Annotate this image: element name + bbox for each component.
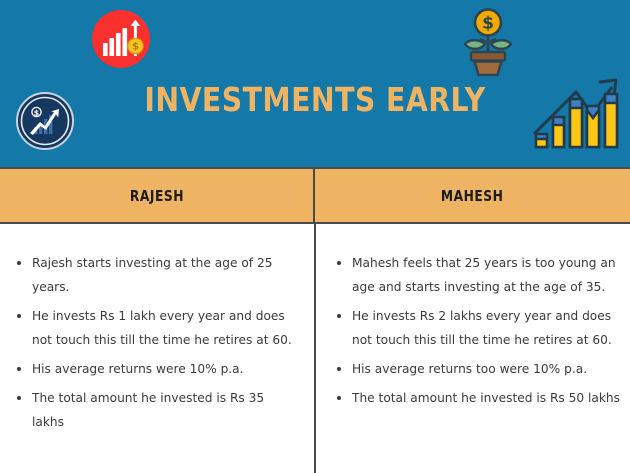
list-item: He invests Rs 1 lakh every year and does… bbox=[12, 304, 298, 352]
mahesh-points-list: Mahesh feels that 25 years is too young … bbox=[332, 251, 620, 410]
column-header-rajesh: RAJESH bbox=[0, 169, 315, 222]
list-item: Rajesh starts investing at the age of 25… bbox=[12, 251, 298, 299]
list-item: The total amount he invested is Rs 35 la… bbox=[12, 386, 298, 434]
list-item: Mahesh feels that 25 years is too young … bbox=[332, 251, 620, 299]
column-body-rajesh: Rajesh starts investing at the age of 25… bbox=[0, 224, 316, 473]
list-item: He invests Rs 2 lakhs every year and doe… bbox=[332, 304, 620, 352]
column-header-rajesh-label: RAJESH bbox=[129, 187, 183, 205]
growth-chart-circle-icon: $ bbox=[92, 10, 150, 68]
money-plant-icon: $ bbox=[452, 8, 524, 78]
rajesh-points-list: Rajesh starts investing at the age of 25… bbox=[12, 251, 298, 434]
column-header-mahesh-label: MAHESH bbox=[441, 187, 504, 205]
svg-text:$: $ bbox=[34, 108, 39, 117]
column-body-mahesh: Mahesh feels that 25 years is too young … bbox=[316, 224, 630, 473]
comparison-table-header: RAJESH MAHESH bbox=[0, 167, 630, 224]
column-header-mahesh: MAHESH bbox=[315, 169, 630, 222]
svg-text:$: $ bbox=[132, 42, 139, 53]
list-item: His average returns too were 10% p.a. bbox=[332, 357, 620, 381]
header-banner: $ $ $ bbox=[0, 0, 630, 167]
infographic-page: $ $ $ bbox=[0, 0, 630, 473]
svg-text:$: $ bbox=[482, 14, 494, 34]
list-item: His average returns were 10% p.a. bbox=[12, 357, 298, 381]
comparison-table-body: Rajesh starts investing at the age of 25… bbox=[0, 224, 630, 473]
page-title: INVESTMENTS EARLY bbox=[44, 80, 586, 120]
list-item: The total amount he invested is Rs 50 la… bbox=[332, 386, 620, 410]
